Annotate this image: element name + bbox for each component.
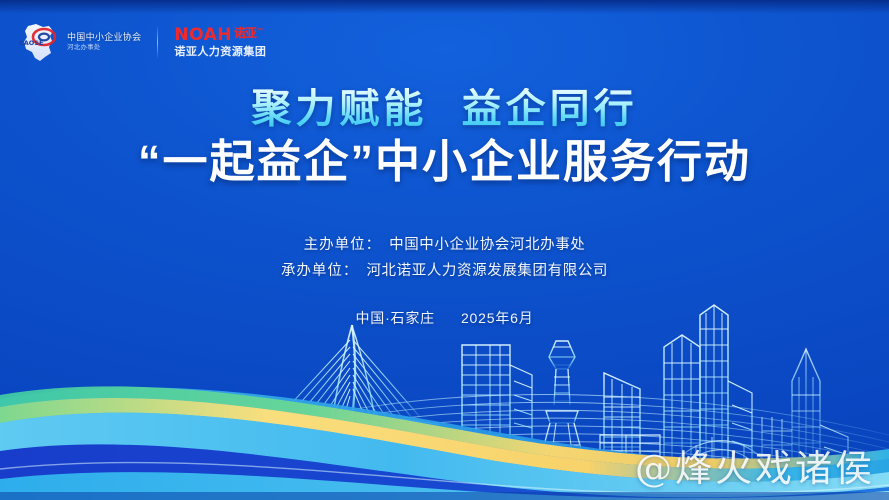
bottom-edge-shade: [0, 492, 889, 500]
association-branch: 河北办事处: [67, 44, 141, 51]
partner-logo: NOAH 诺亚 ™ 诺亚人力资源集团: [174, 27, 266, 58]
details-block: 主办单位：中国中小企业协会河北办事处 承办单位：河北诺亚人力资源发展集团有限公司: [0, 232, 889, 284]
page-subtitle-slogan: 聚力赋能 益企同行: [251, 88, 637, 130]
slogan-gap: [427, 87, 461, 131]
page-title: “一起益企”中小企业服务行动: [0, 138, 889, 185]
association-name: 中国中小企业协会: [67, 32, 141, 42]
slogan-right: 益企同行: [462, 87, 638, 131]
event-date: 2025年6月: [461, 310, 534, 326]
watermark-text: @烽火戏诸侯: [635, 438, 875, 492]
association-logo-text: 中国中小企业协会 河北办事处: [67, 32, 141, 52]
partner-name: 诺亚人力资源集团: [174, 47, 266, 58]
title-block: 聚力赋能 益企同行 “一起益企”中小企业服务行动: [0, 88, 889, 185]
slogan-left: 聚力赋能: [251, 87, 427, 131]
venue-location: 中国·石家庄: [356, 310, 435, 326]
logo-divider: [157, 25, 158, 59]
partner-word: NOAH: [174, 27, 232, 44]
organizer-line: 主办单位：中国中小企业协会河北办事处: [0, 232, 889, 258]
undertaker-label: 承办单位：: [281, 263, 359, 279]
svg-text:CAOSE: CAOSE: [19, 39, 43, 47]
trademark-symbol: ™: [257, 28, 263, 34]
venue-date-line: 中国·石家庄2025年6月: [0, 308, 889, 328]
organizer-label: 主办单位：: [304, 237, 382, 253]
header-logo-bar: CAOSE 中国中小企业协会 河北办事处 NOAH 诺亚 ™ 诺亚人力资源集团: [16, 18, 266, 66]
organizer-value: 中国中小企业协会河北办事处: [389, 237, 585, 253]
poster-canvas: CAOSE 中国中小企业协会 河北办事处 NOAH 诺亚 ™ 诺亚人力资源集团 …: [0, 0, 889, 500]
top-edge-shade: [0, 0, 889, 14]
association-logo: CAOSE 中国中小企业协会 河北办事处: [16, 20, 141, 64]
undertaker-value: 河北诺亚人力资源发展集团有限公司: [366, 263, 608, 279]
partner-word-cn: 诺亚: [234, 27, 256, 39]
china-map-logo-icon: CAOSE: [16, 20, 62, 64]
partner-logo-wordmark: NOAH 诺亚 ™: [174, 27, 263, 44]
undertaker-line: 承办单位：河北诺亚人力资源发展集团有限公司: [0, 258, 889, 284]
